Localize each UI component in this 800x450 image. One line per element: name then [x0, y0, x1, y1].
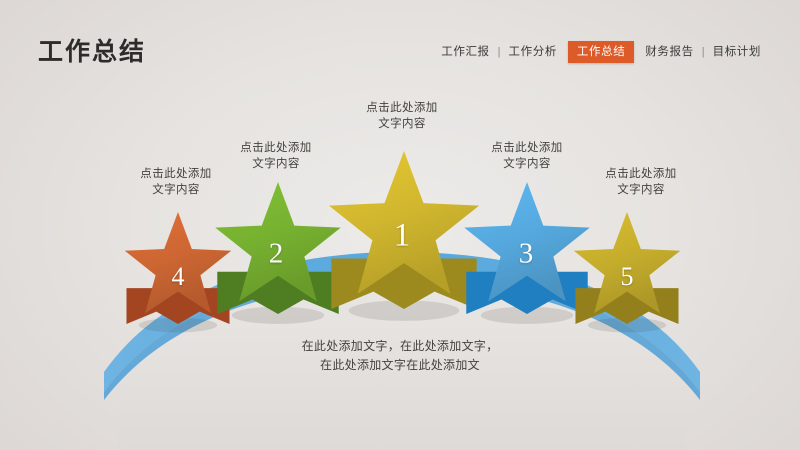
caption-text: 在此处添加文字，在此处添加文字， 在此处添加文字在此处添加文 [302, 337, 499, 375]
star-label-2[interactable]: 点击此处添加文字内容 [240, 140, 311, 172]
star-label-5[interactable]: 点击此处添加文字内容 [605, 166, 676, 198]
star-label-line-2: 文字内容 [366, 116, 437, 132]
star-4[interactable] [125, 212, 232, 332]
star-1[interactable] [329, 151, 479, 321]
star-base [575, 288, 678, 324]
star-base [466, 272, 587, 314]
caption-line-1: 在此处添加文字，在此处添加文字， [302, 339, 499, 353]
star-label-4[interactable]: 点击此处添加文字内容 [140, 166, 211, 198]
star-label-1[interactable]: 点击此处添加文字内容 [366, 100, 437, 132]
stars-graphic [0, 0, 800, 450]
slide-canvas: 工作总结 工作汇报|工作分析工作总结财务报告|目标计划 [0, 0, 800, 450]
star-label-line-2: 文字内容 [240, 156, 311, 172]
star-base [331, 258, 476, 309]
star-label-line-2: 文字内容 [605, 182, 676, 198]
star-label-line-1: 点击此处添加 [240, 142, 311, 154]
star-3[interactable] [464, 182, 590, 324]
star-label-line-1: 点击此处添加 [491, 142, 562, 154]
star-label-line-2: 文字内容 [491, 156, 562, 172]
star-base [126, 288, 229, 324]
star-5[interactable] [574, 212, 681, 332]
star-label-line-1: 点击此处添加 [605, 168, 676, 180]
star-2[interactable] [215, 182, 341, 324]
diagram-stage: 点击此处添加文字内容点击此处添加文字内容点击此处添加文字内容点击此处添加文字内容… [0, 0, 800, 450]
star-label-line-1: 点击此处添加 [140, 168, 211, 180]
star-label-3[interactable]: 点击此处添加文字内容 [491, 140, 562, 172]
star-label-line-1: 点击此处添加 [366, 102, 437, 114]
caption-line-2: 在此处添加文字在此处添加文 [302, 356, 499, 375]
star-base [217, 272, 338, 314]
star-label-line-2: 文字内容 [140, 182, 211, 198]
